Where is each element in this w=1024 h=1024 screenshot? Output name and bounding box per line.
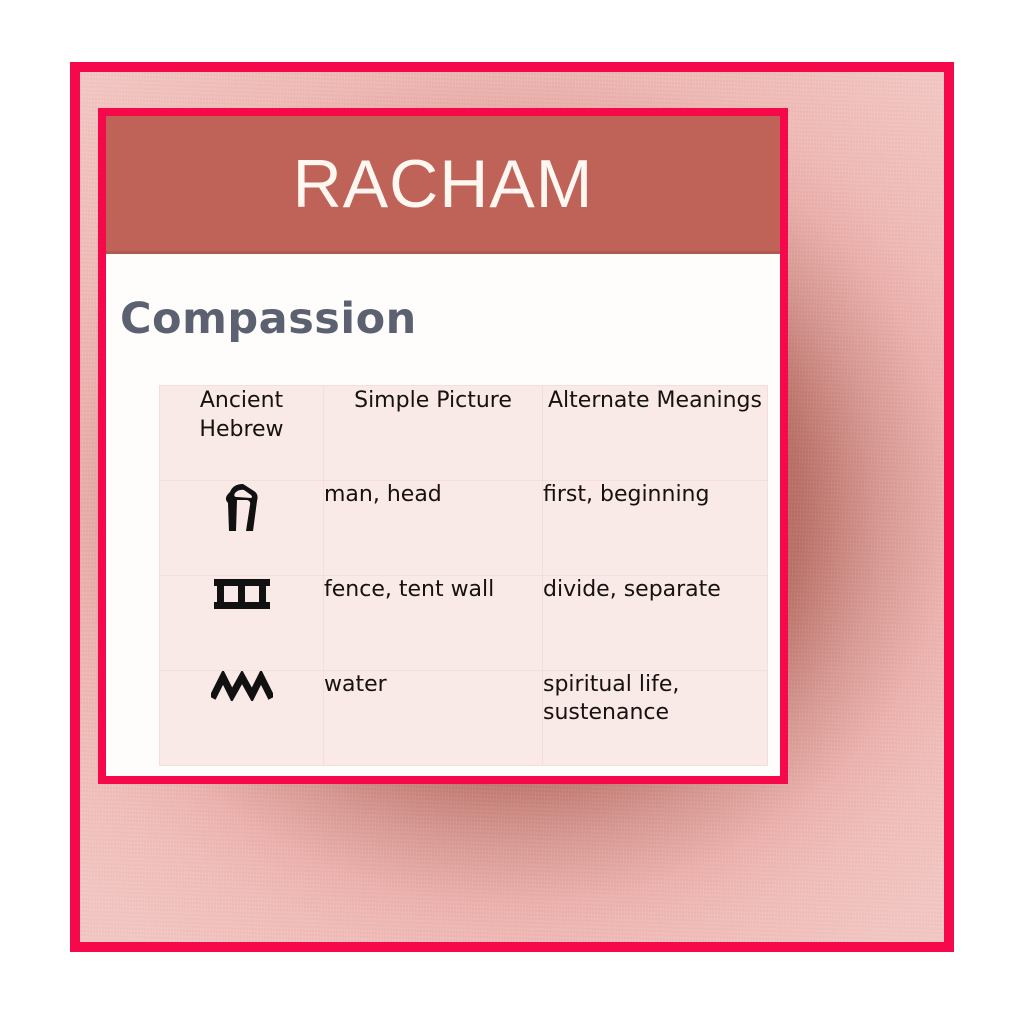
column-header-simple-picture: Simple Picture [324, 386, 543, 481]
table-body: man, head first, beginning [160, 481, 768, 766]
content-card: RACHAM Compassion Ancient Hebrew Simple … [106, 116, 780, 776]
cell-ancient-hebrew [160, 481, 324, 576]
content-card-frame: RACHAM Compassion Ancient Hebrew Simple … [98, 108, 788, 784]
cell-simple-picture: man, head [324, 481, 543, 576]
ancient-hebrew-table: Ancient Hebrew Simple Picture Alternate … [159, 385, 768, 766]
table-row: man, head first, beginning [160, 481, 768, 576]
cell-alternate-meanings: divide, separate [543, 576, 768, 671]
table-row: water spiritual life, sustenance [160, 671, 768, 766]
card-title: RACHAM [293, 150, 594, 218]
cell-alternate-meanings: spiritual life, sustenance [543, 671, 768, 766]
cell-ancient-hebrew [160, 671, 324, 766]
table-header: Ancient Hebrew Simple Picture Alternate … [160, 386, 768, 481]
fence-ladder-glyph [213, 576, 271, 617]
table-header-row: Ancient Hebrew Simple Picture Alternate … [160, 386, 768, 481]
column-header-ancient-hebrew: Ancient Hebrew [160, 386, 324, 481]
head-profile-glyph [220, 481, 264, 540]
cell-simple-picture: fence, tent wall [324, 576, 543, 671]
cell-ancient-hebrew [160, 576, 324, 671]
card-title-band: RACHAM [106, 116, 780, 254]
water-zigzag-glyph [211, 671, 273, 706]
table-row: fence, tent wall divide, separate [160, 576, 768, 671]
card-subtitle: Compassion [120, 298, 780, 341]
cell-alternate-meanings: first, beginning [543, 481, 768, 576]
column-header-alternate-meanings: Alternate Meanings [543, 386, 768, 481]
cell-simple-picture: water [324, 671, 543, 766]
